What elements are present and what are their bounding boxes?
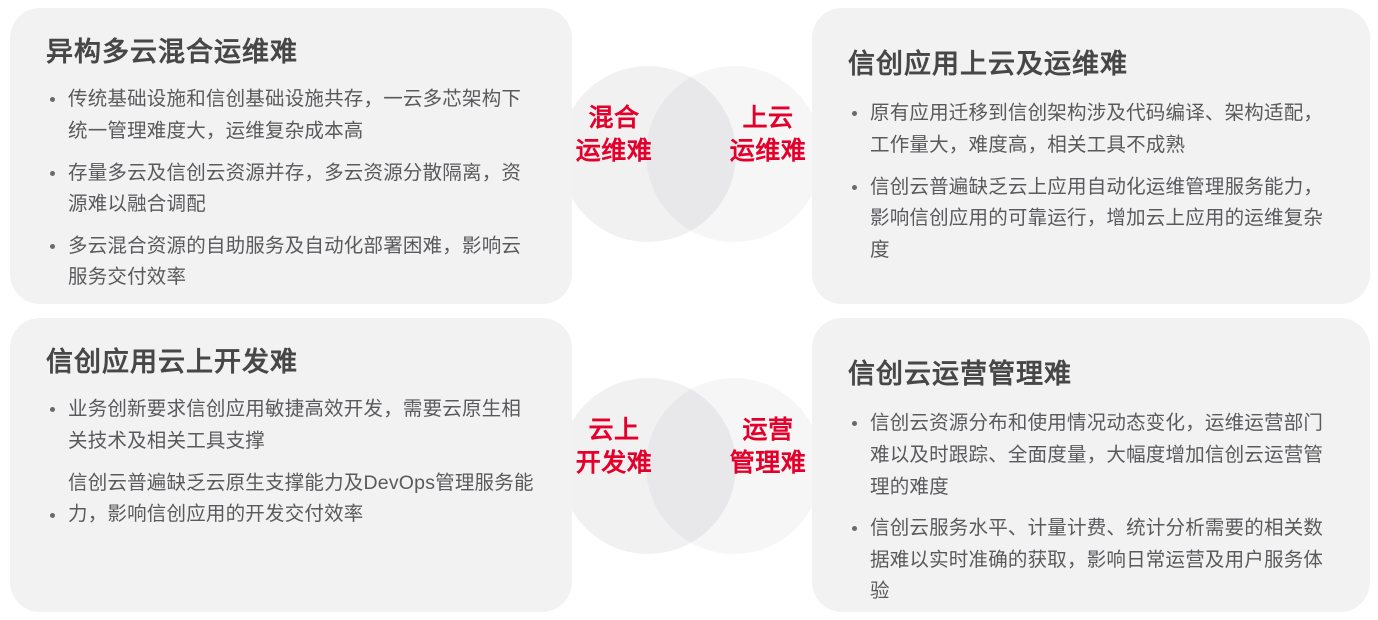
venn-label-cloud-migration-ops: 上云 运维难 — [708, 102, 828, 168]
list-item: 信创云普遍缺乏云原生支撑能力及DevOps管理服务能力，影响信创应用的开发交付效… — [46, 468, 540, 531]
bullet-list: 原有应用迁移到信创架构涉及代码编译、架构适配，工作量大，难度高，相关工具不成熟 … — [848, 98, 1338, 266]
card-app-cloud-development: 信创应用云上开发难 业务创新要求信创应用敏捷高效开发，需要云原生相关技术及相关工… — [10, 318, 572, 612]
list-item: 多云混合资源的自助服务及自动化部署困难，影响云服务交付效率 — [46, 231, 540, 294]
list-item: 信创云普遍缺乏云上应用自动化运维管理服务能力，影响信创应用的可靠运行，增加云上应… — [848, 172, 1338, 267]
venn-label-operations-management: 运营 管理难 — [708, 414, 828, 480]
card-title: 信创云运营管理难 — [848, 358, 1338, 390]
bullet-list: 业务创新要求信创应用敏捷高效开发，需要云原生相关技术及相关工具支撑 信创云普遍缺… — [46, 394, 540, 530]
list-item: 业务创新要求信创应用敏捷高效开发，需要云原生相关技术及相关工具支撑 — [46, 394, 540, 457]
card-hybrid-multicloud-ops: 异构多云混合运维难 传统基础设施和信创基础设施共存，一云多芯架构下统一管理难度大… — [10, 8, 572, 304]
list-item: 信创云资源分布和使用情况动态变化，运维运营部门难以及时跟踪、全面度量，大幅度增加… — [848, 408, 1338, 503]
list-item: 信创云服务水平、计量计费、统计分析需要的相关数据难以实时准确的获取，影响日常运营… — [848, 513, 1338, 608]
venn-cluster-bottom: 云上 开发难 运营 管理难 — [560, 378, 822, 558]
infographic-canvas: 混合 运维难 上云 运维难 云上 开发难 运营 管理难 异构多云混合运维难 传统… — [0, 0, 1378, 620]
venn-label-cloud-development: 云上 开发难 — [554, 414, 674, 480]
list-item: 传统基础设施和信创基础设施共存，一云多芯架构下统一管理难度大，运维复杂成本高 — [46, 84, 540, 147]
card-cloud-operations-management: 信创云运营管理难 信创云资源分布和使用情况动态变化，运维运营部门难以及时跟踪、全… — [812, 318, 1370, 612]
list-item: 原有应用迁移到信创架构涉及代码编译、架构适配，工作量大，难度高，相关工具不成熟 — [848, 98, 1338, 161]
list-item: 存量多云及信创云资源并存，多云资源分散隔离，资源难以融合调配 — [46, 158, 540, 221]
card-title: 异构多云混合运维难 — [46, 36, 540, 68]
bullet-list: 传统基础设施和信创基础设施共存，一云多芯架构下统一管理难度大，运维复杂成本高 存… — [46, 84, 540, 293]
bullet-list: 信创云资源分布和使用情况动态变化，运维运营部门难以及时跟踪、全面度量，大幅度增加… — [848, 408, 1338, 607]
card-app-cloud-migration-ops: 信创应用上云及运维难 原有应用迁移到信创架构涉及代码编译、架构适配，工作量大，难… — [812, 8, 1370, 304]
venn-cluster-top: 混合 运维难 上云 运维难 — [560, 66, 822, 246]
venn-label-hybrid-ops: 混合 运维难 — [554, 102, 674, 168]
card-title: 信创应用云上开发难 — [46, 346, 540, 378]
card-title: 信创应用上云及运维难 — [848, 48, 1338, 80]
